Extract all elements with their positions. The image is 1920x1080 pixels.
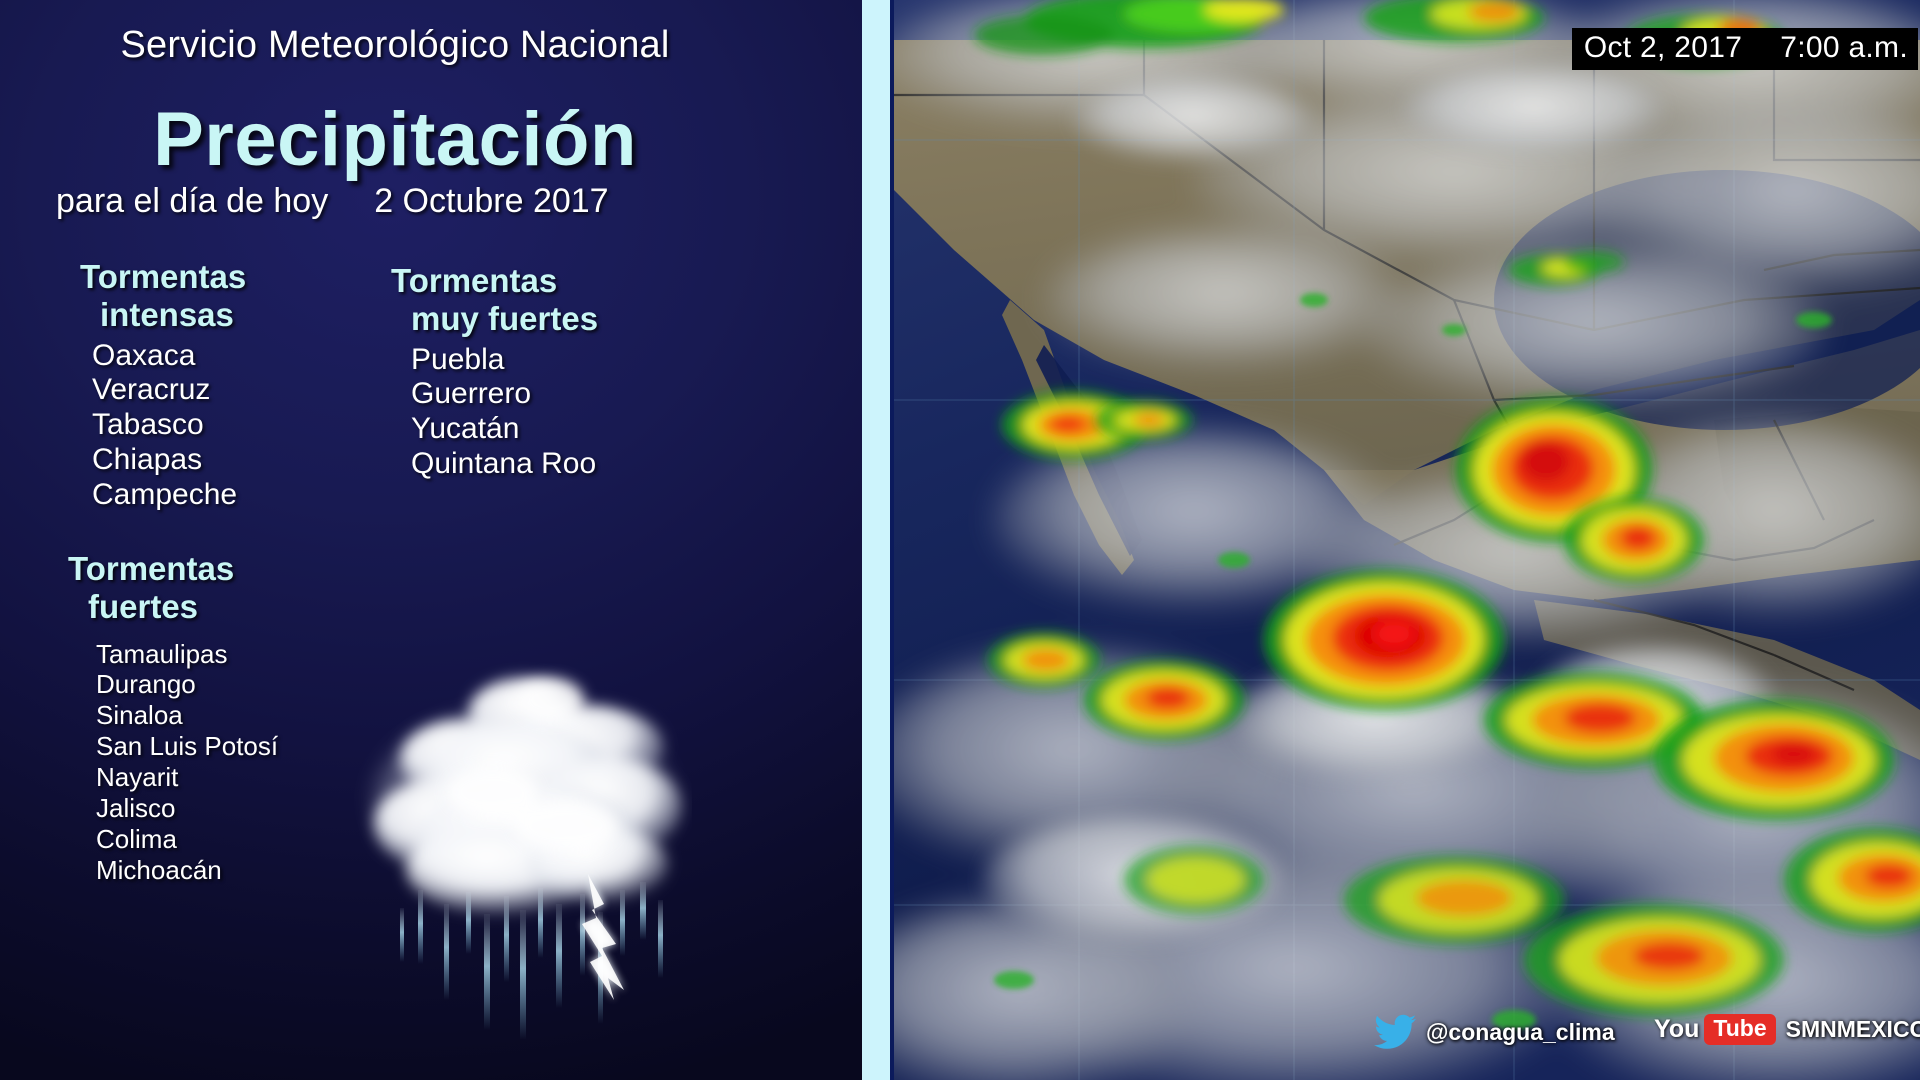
state-list-muy-fuertes: Puebla Guerrero Yucatán Quintana Roo	[383, 343, 598, 482]
organization-title: Servicio Meteorológico Nacional	[0, 24, 790, 67]
twitter-icon	[1374, 1014, 1416, 1050]
social-footer: @conagua_clima You Tube SMNMEXICO	[894, 1014, 1920, 1062]
category-heading-line1: Tormentas	[68, 550, 234, 587]
category-heading: Tormentas muy fuertes	[383, 262, 598, 339]
category-heading: Tormentas fuertes	[62, 550, 278, 627]
category-tormentas-muy-fuertes: Tormentas muy fuertes Puebla Guerrero Yu…	[383, 262, 598, 482]
category-heading-line1: Tormentas	[80, 258, 246, 295]
youtube-word-tube: Tube	[1704, 1014, 1775, 1045]
youtube-channel: SMNMEXICO	[1786, 1016, 1920, 1043]
list-item: Nayarit	[96, 762, 278, 793]
twitter-link[interactable]: @conagua_clima	[1374, 1014, 1615, 1050]
list-item: Tabasco	[92, 408, 246, 443]
storm-cloud-icon	[352, 642, 692, 1062]
youtube-icon: You Tube	[1654, 1014, 1776, 1045]
list-item: Oaxaca	[92, 339, 246, 374]
list-item: Guerrero	[411, 377, 598, 412]
list-item: Quintana Roo	[411, 447, 598, 482]
list-item: Chiapas	[92, 443, 246, 478]
left-info-panel: Servicio Meteorológico Nacional Precipit…	[0, 0, 862, 1080]
list-item: Colima	[96, 824, 278, 855]
state-list-fuertes: Tamaulipas Durango Sinaloa San Luis Poto…	[62, 639, 278, 887]
twitter-handle: @conagua_clima	[1426, 1019, 1615, 1046]
timestamp-badge: Oct 2, 20177:00 a.m.	[1572, 28, 1918, 70]
list-item: Yucatán	[411, 412, 598, 447]
category-heading-line2: intensas	[80, 296, 246, 334]
youtube-word-you: You	[1654, 1015, 1699, 1044]
youtube-link[interactable]: You Tube SMNMEXICO	[1654, 1014, 1920, 1045]
category-heading-line2: muy fuertes	[391, 300, 598, 338]
list-item: Puebla	[411, 343, 598, 378]
page-title: Precipitación	[0, 96, 790, 183]
list-item: Durango	[96, 669, 278, 700]
category-heading-line2: fuertes	[68, 588, 278, 626]
list-item: Jalisco	[96, 793, 278, 824]
weather-infographic: Servicio Meteorológico Nacional Precipit…	[0, 0, 1920, 1080]
list-item: Michoacán	[96, 855, 278, 886]
category-tormentas-intensas: Tormentas intensas Oaxaca Veracruz Tabas…	[80, 258, 246, 513]
panel-divider	[862, 0, 890, 1080]
list-item: Campeche	[92, 478, 246, 513]
category-heading: Tormentas intensas	[80, 258, 246, 335]
satellite-infrared-image	[894, 0, 1920, 1080]
timestamp-time: 7:00 a.m.	[1780, 31, 1908, 64]
subtitle-prefix: para el día de hoy	[56, 182, 328, 220]
satellite-map-panel[interactable]: Oct 2, 20177:00 a.m. @conagua_clima You …	[894, 0, 1920, 1080]
subtitle-date: 2 Octubre 2017	[374, 182, 608, 220]
category-heading-line1: Tormentas	[391, 262, 557, 299]
timestamp-date: Oct 2, 2017	[1584, 31, 1742, 64]
list-item: Sinaloa	[96, 700, 278, 731]
category-tormentas-fuertes: Tormentas fuertes Tamaulipas Durango Sin…	[62, 550, 278, 886]
state-list-intensas: Oaxaca Veracruz Tabasco Chiapas Campeche	[80, 339, 246, 513]
subtitle: para el día de hoy2 Octubre 2017	[56, 182, 796, 221]
list-item: San Luis Potosí	[96, 731, 278, 762]
list-item: Veracruz	[92, 373, 246, 408]
list-item: Tamaulipas	[96, 639, 278, 670]
